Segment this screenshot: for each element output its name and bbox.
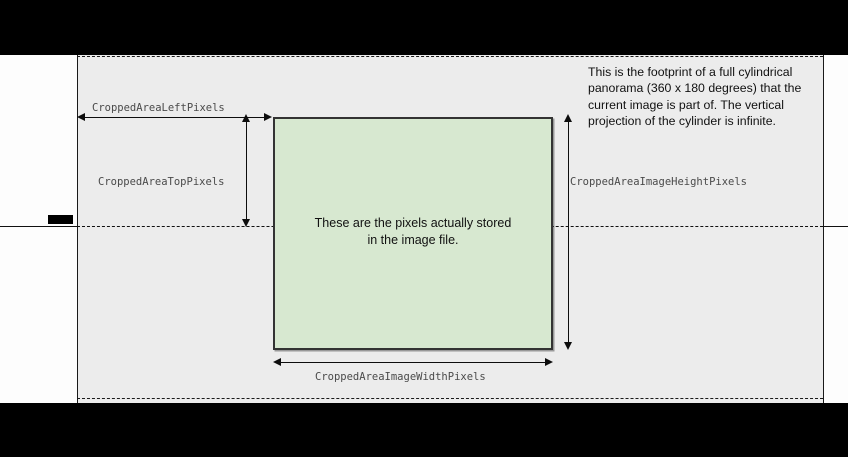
left-pixels-arrowhead-start	[77, 113, 85, 121]
image-width-arrow-line	[276, 362, 550, 363]
horizon-line-left-extension	[0, 226, 78, 227]
footprint-bottom-edge	[77, 398, 823, 399]
diagram-canvas: These are the pixels actually stored in …	[0, 0, 848, 457]
left-pixels-arrowhead-end	[264, 113, 272, 121]
footprint-left-edge	[77, 55, 78, 403]
stored-pixels-rectangle: These are the pixels actually stored in …	[273, 117, 553, 350]
image-height-arrow-line	[568, 120, 569, 346]
top-pixels-arrowhead-start	[242, 114, 250, 122]
label-cropped-area-left-pixels: CroppedAreaLeftPixels	[92, 102, 225, 114]
image-width-arrowhead-start	[273, 358, 281, 366]
stored-pixels-caption-line1: These are the pixels actually stored	[315, 216, 512, 230]
stored-pixels-caption-line2: in the image file.	[367, 233, 458, 247]
label-cropped-area-image-height-pixels: CroppedAreaImageHeightPixels	[570, 176, 747, 188]
image-height-arrowhead-end	[564, 342, 572, 350]
label-cropped-area-image-width-pixels: CroppedAreaImageWidthPixels	[315, 371, 486, 383]
horizon-marker-block	[48, 215, 73, 224]
footprint-top-edge	[77, 56, 823, 57]
top-pixels-arrow-line	[246, 120, 247, 223]
image-height-arrowhead-start	[564, 114, 572, 122]
label-cropped-area-top-pixels: CroppedAreaTopPixels	[98, 176, 224, 188]
stored-pixels-caption: These are the pixels actually stored in …	[275, 215, 551, 249]
top-pixels-arrowhead-end	[242, 219, 250, 227]
footprint-note-text: This is the footprint of a full cylindri…	[588, 64, 826, 129]
horizon-line-right-extension	[823, 226, 848, 227]
image-width-arrowhead-end	[545, 358, 553, 366]
